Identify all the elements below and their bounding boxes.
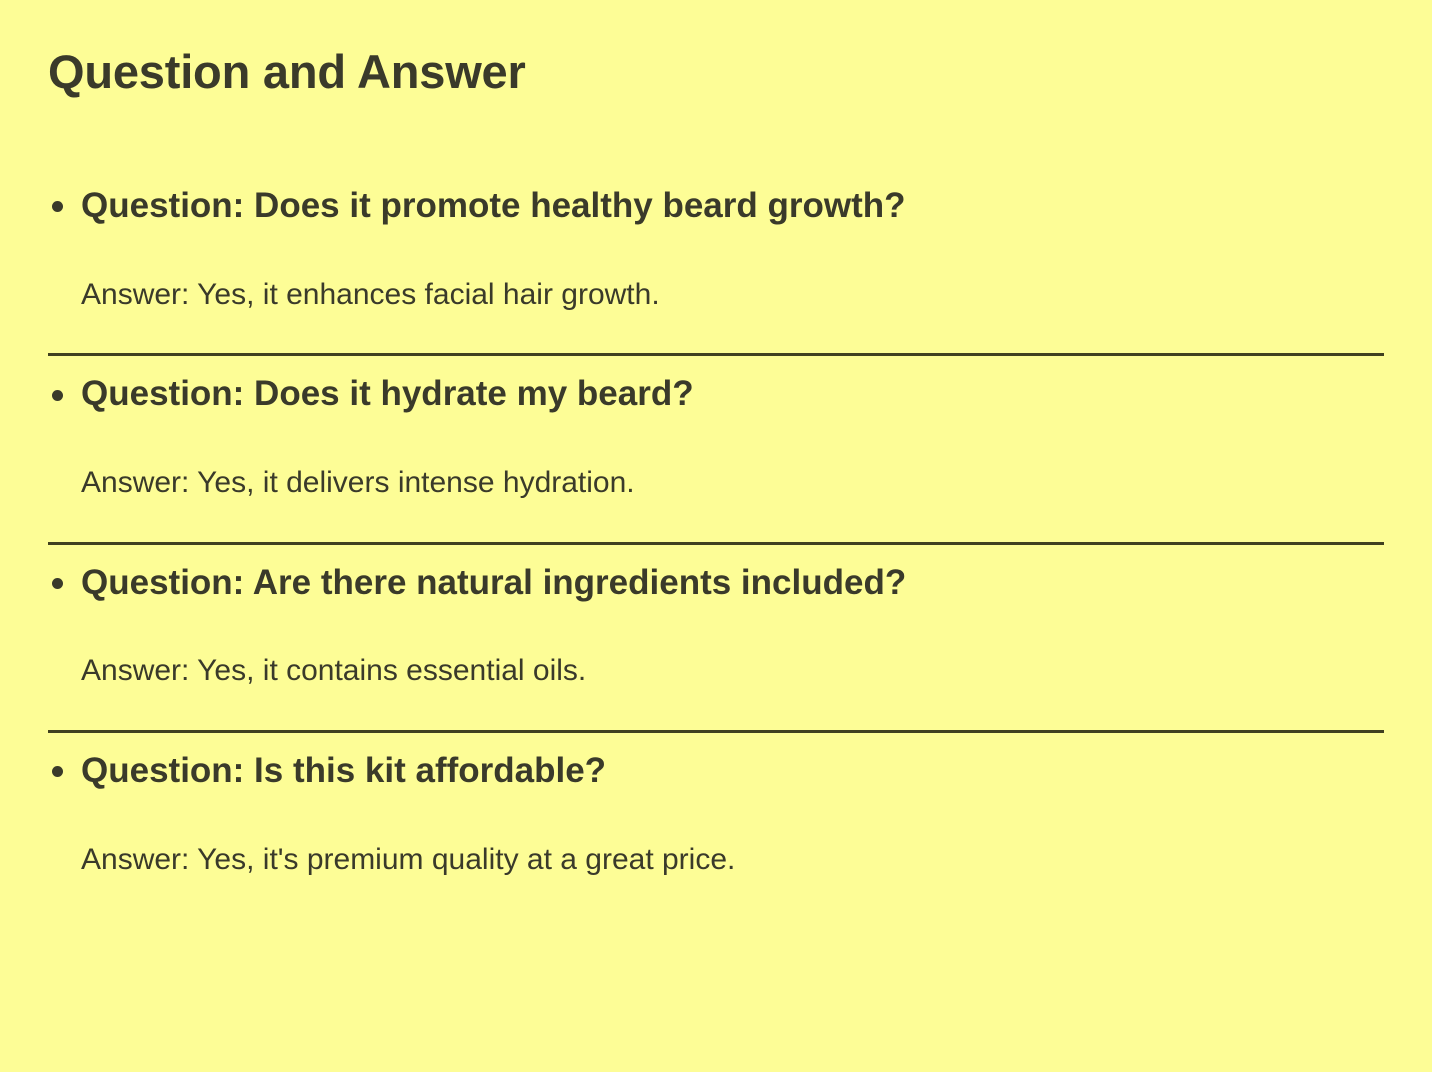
qa-list: Question: Does it promote healthy beard … — [48, 168, 1384, 878]
qa-item: Question: Is this kit affordable? Answer… — [48, 733, 1384, 878]
qa-question-text: Question: Are there natural ingredients … — [81, 563, 906, 602]
qa-question: Question: Does it hydrate my beard? — [48, 372, 1384, 417]
qa-answer-text: Answer: Yes, it's premium quality at a g… — [48, 841, 1384, 879]
page-title: Question and Answer — [48, 44, 526, 99]
bullet-dot-icon — [52, 390, 63, 401]
bullet-dot-icon — [52, 201, 63, 212]
bullet-dot-icon — [52, 578, 63, 589]
qa-answer-text: Answer: Yes, it delivers intense hydrati… — [48, 464, 1384, 502]
qa-item: Question: Are there natural ingredients … — [48, 545, 1384, 733]
qa-page: Question and Answer Question: Does it pr… — [0, 0, 1432, 1072]
qa-question: Question: Is this kit affordable? — [48, 749, 1384, 794]
qa-answer-text: Answer: Yes, it enhances facial hair gro… — [48, 276, 1384, 314]
qa-block: Question: Does it hydrate my beard? Answ… — [48, 356, 1384, 501]
qa-answer-text: Answer: Yes, it contains essential oils. — [48, 652, 1384, 690]
qa-item: Question: Does it hydrate my beard? Answ… — [48, 356, 1384, 544]
qa-question: Question: Are there natural ingredients … — [48, 561, 1384, 606]
qa-question-text: Question: Does it promote healthy beard … — [81, 186, 906, 225]
qa-question: Question: Does it promote healthy beard … — [48, 184, 1384, 229]
qa-block: Question: Is this kit affordable? Answer… — [48, 733, 1384, 878]
qa-item: Question: Does it promote healthy beard … — [48, 168, 1384, 356]
bullet-dot-icon — [52, 766, 63, 777]
qa-block: Question: Are there natural ingredients … — [48, 545, 1384, 690]
qa-question-text: Question: Is this kit affordable? — [81, 751, 606, 790]
qa-block: Question: Does it promote healthy beard … — [48, 168, 1384, 313]
qa-question-text: Question: Does it hydrate my beard? — [81, 374, 694, 413]
